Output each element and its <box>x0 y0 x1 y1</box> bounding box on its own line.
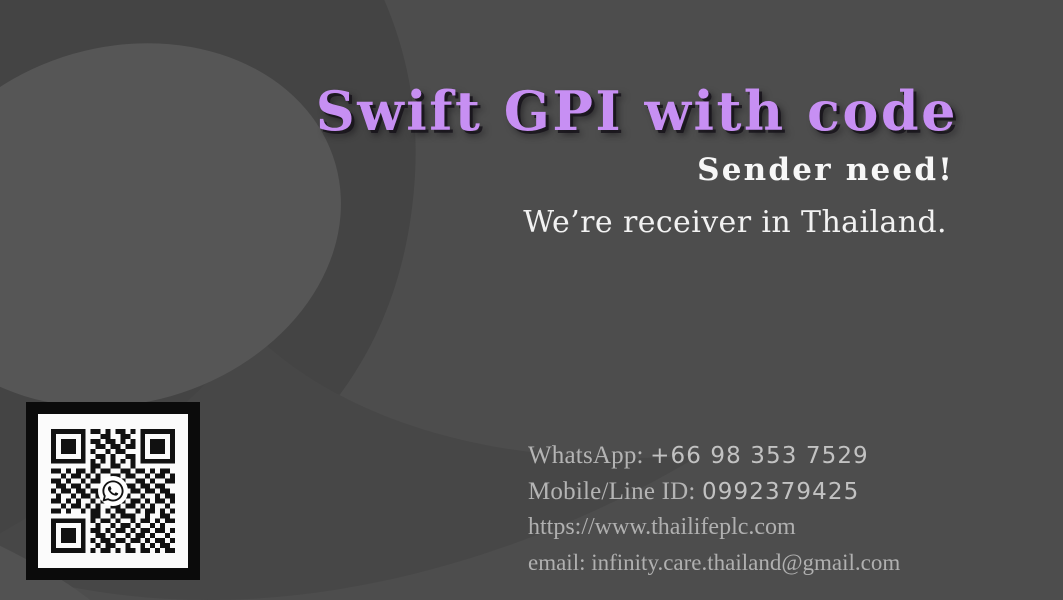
contact-line-mobile: Mobile/Line ID: 0992379425 <box>528 474 998 510</box>
mobile-line-id-number[interactable]: 0992379425 <box>702 479 859 505</box>
tagline: We’re receiver in Thailand. <box>523 208 947 238</box>
subtitle-row: Sender need! <box>697 155 954 186</box>
email-address[interactable]: email: infinity.care.thailand@gmail.com <box>528 550 900 575</box>
page-title: Swift GPI with code <box>316 84 958 138</box>
contact-line-website[interactable]: https://www.thailifeplc.com <box>528 510 998 545</box>
whatsapp-label: WhatsApp: <box>528 442 644 469</box>
tagline-row: We’re receiver in Thailand. <box>523 208 947 238</box>
qr-code-modules-wrap <box>51 429 175 553</box>
whatsapp-number[interactable]: +66 98 353 7529 <box>650 443 869 469</box>
contact-line-email[interactable]: email: infinity.care.thailand@gmail.com <box>528 545 998 580</box>
contact-line-whatsapp: WhatsApp: +66 98 353 7529 <box>528 438 998 474</box>
qr-code-frame[interactable] <box>26 402 200 580</box>
subtitle: Sender need! <box>697 155 954 186</box>
mobile-line-id-label: Mobile/Line ID: <box>528 478 696 505</box>
title-row: Swift GPI with code <box>316 84 958 138</box>
website-url[interactable]: https://www.thailifeplc.com <box>528 514 796 540</box>
business-card-canvas: Swift GPI with code Sender need! We’re r… <box>0 0 1063 600</box>
qr-code-surface[interactable] <box>38 414 188 568</box>
whatsapp-icon <box>98 476 128 506</box>
contact-block: WhatsApp: +66 98 353 7529 Mobile/Line ID… <box>528 438 998 580</box>
